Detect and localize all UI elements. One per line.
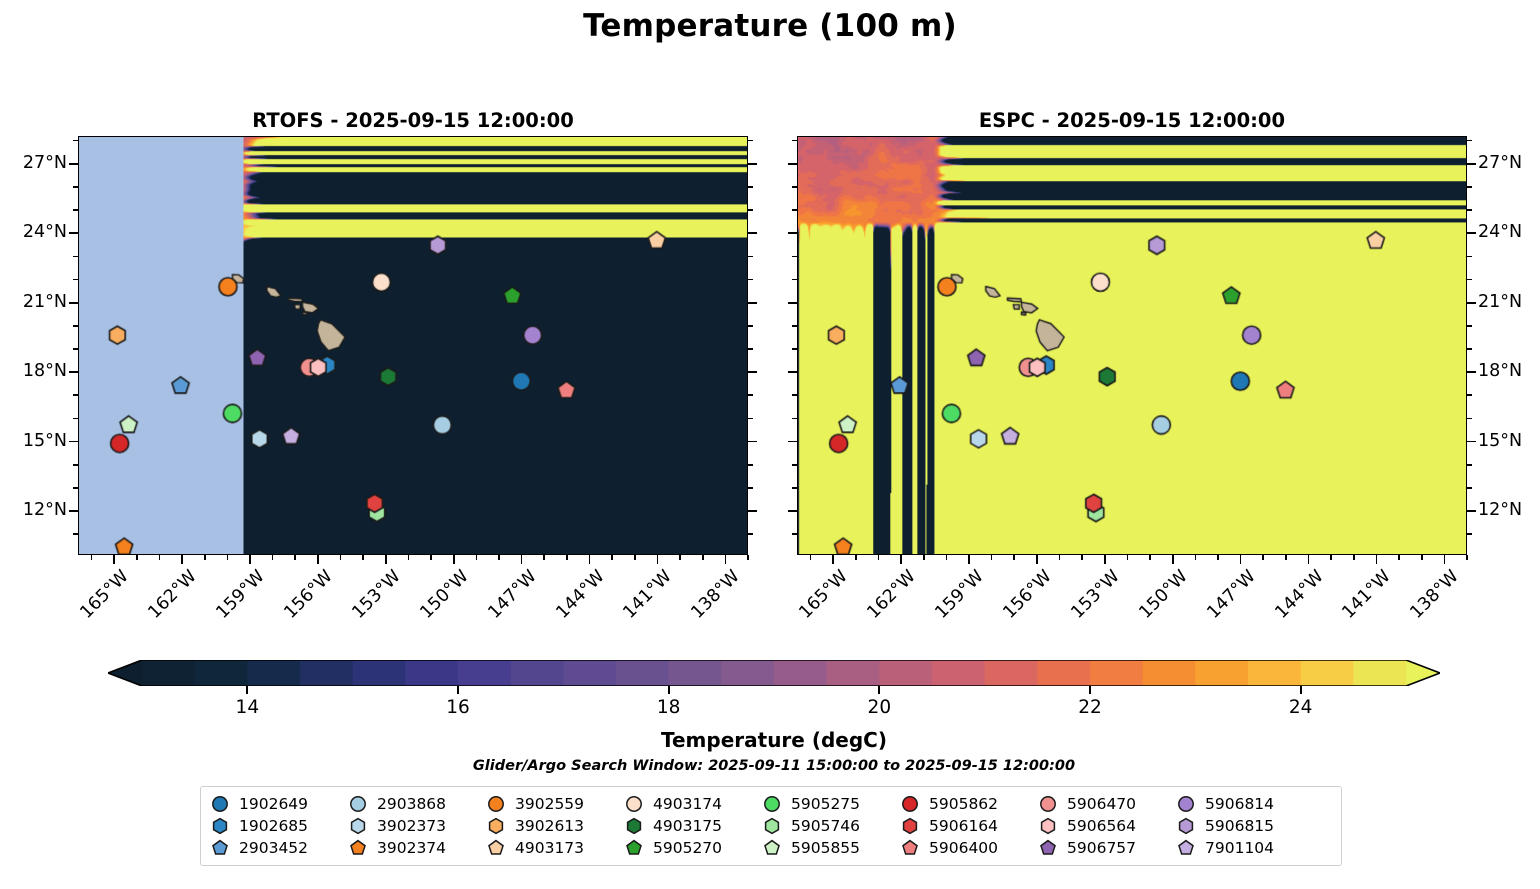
y-minor-tick — [792, 348, 797, 350]
panel-title-espc: ESPC - 2025-09-15 12:00:00 — [797, 109, 1467, 132]
float-legend[interactable]: 1902649290386839025594903174590527559058… — [200, 786, 1342, 866]
y-minor-tick — [73, 209, 78, 211]
colorbar-label: Temperature (degC) — [108, 728, 1440, 752]
map-panel-rtofs[interactable]: RTOFS - 2025-09-15 12:00:00 165°W162°W15… — [78, 136, 748, 555]
x-minor-tick — [430, 555, 432, 560]
x-minor-tick — [634, 555, 636, 560]
x-minor-tick — [294, 555, 296, 560]
y-tick — [69, 441, 78, 443]
y-minor-tick — [1467, 418, 1472, 420]
x-tick — [832, 555, 834, 564]
y-tick — [1467, 163, 1476, 165]
x-tick — [1036, 555, 1038, 564]
x-tick — [589, 555, 591, 564]
map-canvas-rtofs[interactable] — [78, 136, 748, 555]
legend-label: 3902613 — [515, 817, 584, 835]
y-minor-tick — [748, 279, 753, 281]
x-tick — [1172, 555, 1174, 564]
x-minor-tick — [702, 555, 704, 560]
legend-label: 5906814 — [1205, 795, 1274, 813]
y-minor-tick — [792, 279, 797, 281]
colorbar-tick-label-4: 22 — [1078, 697, 1102, 718]
x-minor-tick — [1398, 555, 1400, 560]
legend-marker-circle-icon — [348, 794, 368, 814]
x-tick-label-2: 159°W — [933, 568, 987, 622]
legend-item-1902649[interactable]: 1902649 — [210, 794, 326, 814]
legend-label: 3902373 — [377, 817, 446, 835]
y-tick-label-0: 12°N — [23, 502, 67, 520]
colorbar-tick — [878, 686, 880, 694]
x-minor-tick — [878, 555, 880, 560]
legend-marker-hexagon-icon — [900, 816, 920, 836]
y-tick-label-3: 21°N — [1478, 294, 1522, 312]
y-tick — [1467, 510, 1476, 512]
y-minor-tick — [1467, 464, 1472, 466]
search-window-caption: Glider/Argo Search Window: 2025-09-11 15… — [108, 758, 1440, 774]
legend-label: 2903452 — [239, 839, 308, 857]
legend-item-1902685[interactable]: 1902685 — [210, 816, 326, 836]
colorbar-tick-label-3: 20 — [868, 697, 892, 718]
y-minor-tick — [73, 418, 78, 420]
y-minor-tick — [748, 325, 753, 327]
y-tick-label-5: 27°N — [23, 155, 67, 173]
colorbar-tick-label-1: 16 — [446, 697, 470, 718]
x-minor-tick — [362, 555, 364, 560]
legend-item-5906757[interactable]: 5906757 — [1038, 838, 1154, 858]
x-minor-tick — [946, 555, 948, 560]
colorbar-tick — [246, 686, 248, 694]
legend-label: 5905270 — [653, 839, 722, 857]
x-minor-tick — [1127, 555, 1129, 560]
legend-marker-pentagon-icon — [1038, 838, 1058, 858]
y-minor-tick — [792, 418, 797, 420]
x-tick-label-5: 150°W — [418, 568, 472, 622]
x-tick — [657, 555, 659, 564]
y-tick — [788, 510, 797, 512]
x-tick-label-0: 165°W — [797, 568, 851, 622]
y-minor-tick — [73, 325, 78, 327]
x-minor-tick — [679, 555, 681, 560]
legend-item-5906814[interactable]: 5906814 — [1176, 794, 1292, 814]
y-minor-tick — [748, 418, 753, 420]
x-tick-label-6: 147°W — [1205, 568, 1259, 622]
x-minor-tick — [1013, 555, 1015, 560]
y-tick — [748, 163, 757, 165]
x-minor-tick — [855, 555, 857, 560]
x-minor-tick — [91, 555, 93, 560]
colorbar-tick-label-2: 18 — [657, 697, 681, 718]
legend-label: 5906564 — [1067, 817, 1136, 835]
legend-item-2903868[interactable]: 2903868 — [348, 794, 464, 814]
y-tick — [748, 371, 757, 373]
y-minor-tick — [748, 394, 753, 396]
legend-item-4903174[interactable]: 4903174 — [624, 794, 740, 814]
x-minor-tick — [1285, 555, 1287, 560]
y-tick — [69, 163, 78, 165]
x-minor-tick — [476, 555, 478, 560]
y-minor-tick — [748, 209, 753, 211]
x-tick — [1308, 555, 1310, 564]
legend-item-5906815[interactable]: 5906815 — [1176, 816, 1292, 836]
legend-marker-hexagon-icon — [1038, 816, 1058, 836]
y-minor-tick — [1467, 140, 1472, 142]
y-tick — [1467, 232, 1476, 234]
y-minor-tick — [73, 533, 78, 535]
y-tick-label-2: 18°N — [1478, 363, 1522, 381]
x-minor-tick — [1353, 555, 1355, 560]
y-minor-tick — [1467, 256, 1472, 258]
legend-spacer — [1314, 838, 1332, 858]
legend-marker-circle-icon — [762, 794, 782, 814]
y-tick — [1467, 441, 1476, 443]
x-tick — [113, 555, 115, 564]
y-minor-tick — [748, 464, 753, 466]
y-minor-tick — [748, 533, 753, 535]
legend-marker-pentagon-icon — [348, 838, 368, 858]
legend-label: 5905275 — [791, 795, 860, 813]
x-tick — [521, 555, 523, 564]
y-minor-tick — [792, 464, 797, 466]
colorbar: Temperature (degC) Glider/Argo Search Wi… — [108, 660, 1440, 686]
y-minor-tick — [1467, 279, 1472, 281]
y-minor-tick — [1467, 209, 1472, 211]
x-tick — [385, 555, 387, 564]
y-minor-tick — [1467, 533, 1472, 535]
y-minor-tick — [73, 464, 78, 466]
x-minor-tick — [810, 555, 812, 560]
x-minor-tick — [1330, 555, 1332, 560]
legend-label: 5906757 — [1067, 839, 1136, 857]
legend-marker-circle-icon — [624, 794, 644, 814]
colorbar-tick-label-0: 14 — [236, 697, 260, 718]
y-tick — [69, 232, 78, 234]
x-tick — [1240, 555, 1242, 564]
y-tick-label-0: 12°N — [1478, 502, 1522, 520]
x-minor-tick — [272, 555, 274, 560]
colorbar-tick — [1089, 686, 1091, 694]
x-minor-tick — [159, 555, 161, 560]
y-minor-tick — [792, 325, 797, 327]
x-minor-tick — [1421, 555, 1423, 560]
y-tick — [1467, 302, 1476, 304]
colorbar-gradient — [108, 660, 1440, 686]
legend-marker-hexagon-icon — [624, 816, 644, 836]
x-tick — [1376, 555, 1378, 564]
x-tick-label-1: 162°W — [865, 568, 919, 622]
legend-marker-circle-icon — [1176, 794, 1196, 814]
legend-item-5905275[interactable]: 5905275 — [762, 794, 878, 814]
colorbar-tick-label-5: 24 — [1289, 697, 1313, 718]
x-tick-label-5: 150°W — [1137, 568, 1191, 622]
y-tick-label-1: 15°N — [23, 433, 67, 451]
legend-item-3902613[interactable]: 3902613 — [486, 816, 602, 836]
x-tick-label-4: 153°W — [350, 568, 404, 622]
map-canvas-espc[interactable] — [797, 136, 1467, 555]
y-tick — [788, 371, 797, 373]
y-minor-tick — [792, 533, 797, 535]
y-minor-tick — [1467, 487, 1472, 489]
legend-marker-pentagon-icon — [900, 838, 920, 858]
x-minor-tick — [611, 555, 613, 560]
legend-marker-pentagon-icon — [624, 838, 644, 858]
x-tick — [725, 555, 727, 564]
x-tick — [900, 555, 902, 564]
x-minor-tick — [340, 555, 342, 560]
x-minor-tick — [543, 555, 545, 560]
x-tick-label-3: 156°W — [282, 568, 336, 622]
y-minor-tick — [1467, 186, 1472, 188]
legend-marker-pentagon-icon — [762, 838, 782, 858]
x-minor-tick — [747, 555, 749, 560]
y-minor-tick — [1467, 348, 1472, 350]
legend-marker-circle-icon — [900, 794, 920, 814]
y-minor-tick — [792, 487, 797, 489]
x-minor-tick — [991, 555, 993, 560]
legend-label: 5906400 — [929, 839, 998, 857]
y-tick — [69, 371, 78, 373]
x-minor-tick — [1081, 555, 1083, 560]
legend-label: 5905862 — [929, 795, 998, 813]
x-tick — [968, 555, 970, 564]
legend-label: 4903173 — [515, 839, 584, 857]
y-tick-label-4: 24°N — [1478, 224, 1522, 242]
y-minor-tick — [73, 186, 78, 188]
legend-marker-hexagon-icon — [1176, 816, 1196, 836]
y-tick-label-1: 15°N — [1478, 433, 1522, 451]
colorbar-tick — [1300, 686, 1302, 694]
legend-label: 5906470 — [1067, 795, 1136, 813]
legend-label: 5905855 — [791, 839, 860, 857]
x-tick — [1104, 555, 1106, 564]
x-minor-tick — [1195, 555, 1197, 560]
y-tick — [69, 302, 78, 304]
y-tick — [748, 510, 757, 512]
y-tick-label-3: 21°N — [23, 294, 67, 312]
y-minor-tick — [792, 186, 797, 188]
legend-spacer — [1314, 794, 1332, 814]
legend-marker-circle-icon — [1038, 794, 1058, 814]
y-tick — [748, 302, 757, 304]
y-minor-tick — [792, 256, 797, 258]
y-minor-tick — [73, 487, 78, 489]
y-minor-tick — [792, 140, 797, 142]
x-minor-tick — [1217, 555, 1219, 560]
legend-label: 5905746 — [791, 817, 860, 835]
y-minor-tick — [1467, 325, 1472, 327]
legend-item-3902373[interactable]: 3902373 — [348, 816, 464, 836]
y-minor-tick — [748, 487, 753, 489]
legend-item-4903173[interactable]: 4903173 — [486, 838, 602, 858]
x-tick-label-8: 141°W — [1340, 568, 1394, 622]
legend-marker-pentagon-icon — [1176, 838, 1196, 858]
x-tick-label-7: 144°W — [553, 568, 607, 622]
legend-item-5906470[interactable]: 5906470 — [1038, 794, 1154, 814]
panel-title-rtofs: RTOFS - 2025-09-15 12:00:00 — [78, 109, 748, 132]
x-minor-tick — [566, 555, 568, 560]
x-tick — [181, 555, 183, 564]
legend-label: 5906164 — [929, 817, 998, 835]
y-minor-tick — [73, 140, 78, 142]
temperature-field-rtofs — [79, 137, 747, 554]
legend-label: 3902374 — [377, 839, 446, 857]
x-tick-label-9: 138°W — [689, 568, 743, 622]
y-minor-tick — [748, 348, 753, 350]
x-minor-tick — [1466, 555, 1468, 560]
x-tick-label-9: 138°W — [1408, 568, 1462, 622]
x-tick-label-0: 165°W — [78, 568, 132, 622]
colorbar-tick — [457, 686, 459, 694]
legend-item-5905270[interactable]: 5905270 — [624, 838, 740, 858]
legend-item-2903452[interactable]: 2903452 — [210, 838, 326, 858]
y-minor-tick — [748, 140, 753, 142]
legend-label: 1902685 — [239, 817, 308, 835]
x-minor-tick — [498, 555, 500, 560]
legend-label: 4903174 — [653, 795, 722, 813]
legend-label: 5906815 — [1205, 817, 1274, 835]
legend-marker-pentagon-icon — [486, 838, 506, 858]
page-title: Temperature (100 m) — [0, 8, 1540, 44]
y-minor-tick — [73, 348, 78, 350]
x-minor-tick — [1262, 555, 1264, 560]
x-tick-label-8: 141°W — [621, 568, 675, 622]
legend-marker-hexagon-icon — [486, 816, 506, 836]
x-tick-label-6: 147°W — [486, 568, 540, 622]
colorbar-tick — [668, 686, 670, 694]
y-minor-tick — [792, 209, 797, 211]
y-tick — [788, 232, 797, 234]
temperature-field-espc — [798, 137, 1466, 554]
x-minor-tick — [1059, 555, 1061, 560]
y-tick-label-4: 24°N — [23, 224, 67, 242]
legend-marker-pentagon-icon — [210, 838, 230, 858]
legend-label: 1902649 — [239, 795, 308, 813]
legend-spacer — [1314, 816, 1332, 836]
y-tick — [748, 232, 757, 234]
y-minor-tick — [73, 394, 78, 396]
x-tick — [1444, 555, 1446, 564]
y-minor-tick — [748, 186, 753, 188]
y-tick-label-5: 27°N — [1478, 155, 1522, 173]
y-minor-tick — [748, 256, 753, 258]
legend-marker-hexagon-icon — [762, 816, 782, 836]
legend-item-5906400[interactable]: 5906400 — [900, 838, 1016, 858]
legend-item-4903175[interactable]: 4903175 — [624, 816, 740, 836]
x-minor-tick — [1149, 555, 1151, 560]
x-tick-label-7: 144°W — [1272, 568, 1326, 622]
legend-label: 4903175 — [653, 817, 722, 835]
y-tick-label-2: 18°N — [23, 363, 67, 381]
legend-marker-circle-icon — [486, 794, 506, 814]
y-minor-tick — [73, 279, 78, 281]
y-minor-tick — [1467, 394, 1472, 396]
legend-marker-hexagon-icon — [348, 816, 368, 836]
x-tick-label-4: 153°W — [1069, 568, 1123, 622]
y-minor-tick — [792, 394, 797, 396]
legend-item-3902374[interactable]: 3902374 — [348, 838, 464, 858]
legend-item-3902559[interactable]: 3902559 — [486, 794, 602, 814]
legend-item-5906164[interactable]: 5906164 — [900, 816, 1016, 836]
legend-item-5905855[interactable]: 5905855 — [762, 838, 878, 858]
legend-marker-circle-icon — [210, 794, 230, 814]
legend-item-5905862[interactable]: 5905862 — [900, 794, 1016, 814]
x-tick-label-2: 159°W — [214, 568, 268, 622]
legend-label: 3902559 — [515, 795, 584, 813]
x-tick-label-3: 156°W — [1001, 568, 1055, 622]
x-tick — [317, 555, 319, 564]
y-tick — [788, 441, 797, 443]
x-minor-tick — [227, 555, 229, 560]
map-panel-espc[interactable]: ESPC - 2025-09-15 12:00:00 165°W162°W159… — [797, 136, 1467, 555]
y-tick — [748, 441, 757, 443]
legend-marker-hexagon-icon — [210, 816, 230, 836]
x-tick — [453, 555, 455, 564]
y-minor-tick — [73, 256, 78, 258]
x-tick-label-1: 162°W — [146, 568, 200, 622]
x-tick — [249, 555, 251, 564]
y-tick — [788, 302, 797, 304]
legend-item-5906564[interactable]: 5906564 — [1038, 816, 1154, 836]
x-minor-tick — [204, 555, 206, 560]
x-minor-tick — [136, 555, 138, 560]
legend-item-7901104[interactable]: 7901104 — [1176, 838, 1292, 858]
x-minor-tick — [923, 555, 925, 560]
y-tick — [1467, 371, 1476, 373]
y-tick — [69, 510, 78, 512]
legend-label: 2903868 — [377, 795, 446, 813]
legend-item-5905746[interactable]: 5905746 — [762, 816, 878, 836]
legend-label: 7901104 — [1205, 839, 1274, 857]
x-minor-tick — [408, 555, 410, 560]
y-tick — [788, 163, 797, 165]
